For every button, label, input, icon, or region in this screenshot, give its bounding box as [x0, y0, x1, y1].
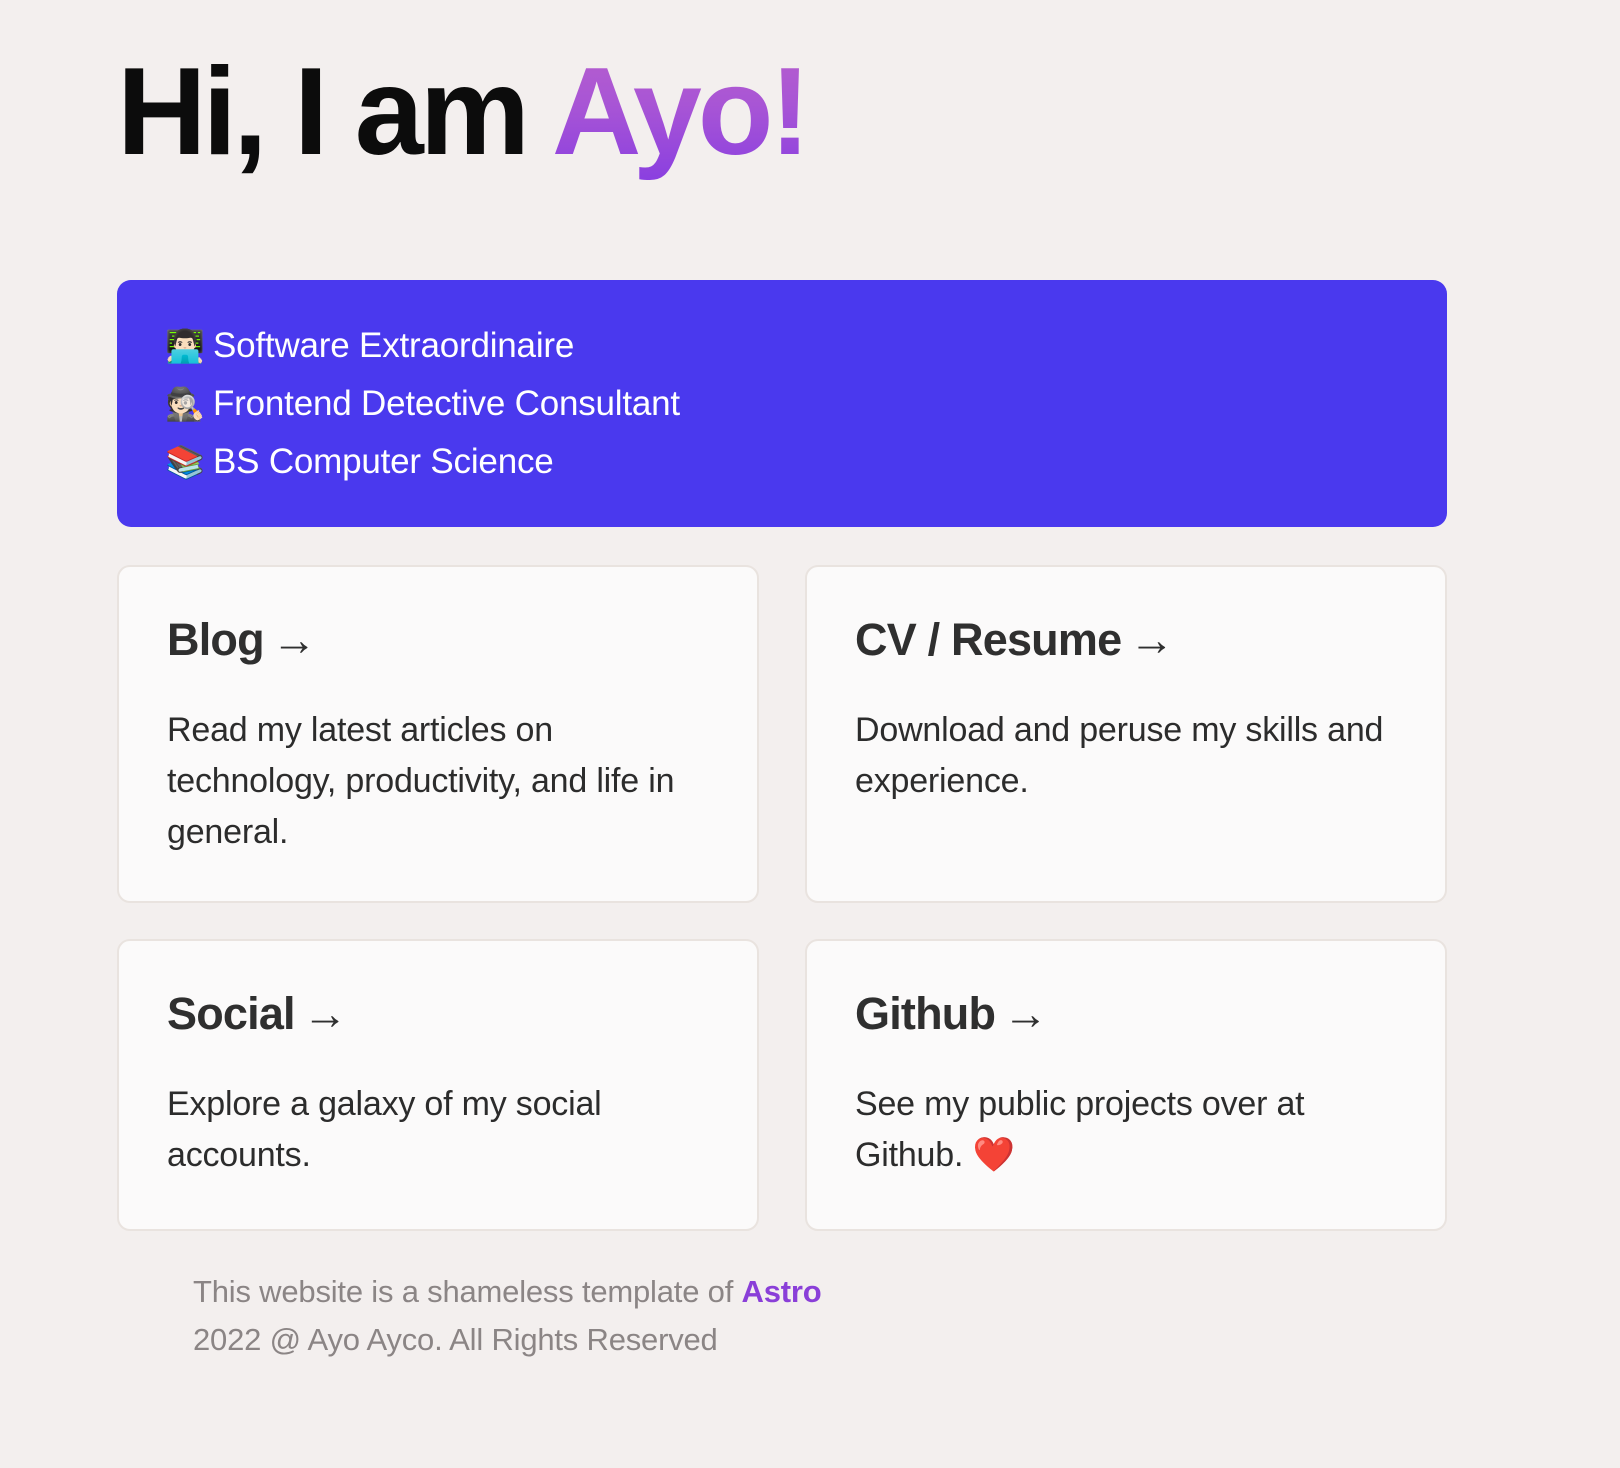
arrow-right-icon: → — [1121, 615, 1173, 665]
card-blog[interactable]: Blog→ Read my latest articles on technol… — [117, 565, 759, 903]
page-title-name: Ayo! — [552, 43, 807, 181]
card-cv-resume-description: Download and peruse my skills and experi… — [855, 705, 1397, 807]
page-title-greeting: Hi, I am — [117, 43, 552, 181]
card-social-description: Explore a galaxy of my social accounts. — [167, 1079, 709, 1181]
footer-credit-line: This website is a shameless template of … — [193, 1268, 1393, 1316]
card-social-title-text: Social — [167, 988, 295, 1039]
footer-copyright: 2022 @ Ayo Ayco. All Rights Reserved — [193, 1316, 1393, 1364]
list-item: 🕵🏻 Frontend Detective Consultant — [165, 375, 1399, 433]
card-github[interactable]: Github→ See my public projects over at G… — [805, 939, 1447, 1231]
list-item: 👨🏻‍💻 Software Extraordinaire — [165, 317, 1399, 375]
detective-icon: 🕵🏻 — [165, 375, 213, 433]
books-icon: 📚 — [165, 433, 213, 491]
page-footer: This website is a shameless template of … — [193, 1268, 1393, 1364]
hero-section: Hi, I am Ayo! — [117, 46, 1457, 180]
card-github-description: See my public projects over at Github. ❤… — [855, 1079, 1397, 1181]
card-social-title: Social→ — [167, 989, 709, 1039]
footer-credit-text: This website is a shameless template of — [193, 1274, 742, 1309]
intro-banner: 👨🏻‍💻 Software Extraordinaire 🕵🏻 Frontend… — [117, 280, 1447, 527]
card-social[interactable]: Social→ Explore a galaxy of my social ac… — [117, 939, 759, 1231]
link-card-grid: Blog→ Read my latest articles on technol… — [117, 565, 1447, 1231]
card-cv-resume-title: CV / Resume→ — [855, 615, 1397, 665]
card-github-title-text: Github — [855, 988, 995, 1039]
card-cv-resume[interactable]: CV / Resume→ Download and peruse my skil… — [805, 565, 1447, 903]
card-blog-title-text: Blog — [167, 614, 264, 665]
page-root: Hi, I am Ayo! 👨🏻‍💻 Software Extraordinai… — [0, 0, 1620, 1468]
page-title: Hi, I am Ayo! — [117, 46, 1457, 180]
arrow-right-icon: → — [295, 989, 347, 1039]
card-blog-description: Read my latest articles on technology, p… — [167, 705, 709, 858]
list-item-label: BS Computer Science — [213, 433, 554, 491]
list-item-label: Software Extraordinaire — [213, 317, 574, 375]
card-blog-title: Blog→ — [167, 615, 709, 665]
card-github-title: Github→ — [855, 989, 1397, 1039]
intro-banner-list: 👨🏻‍💻 Software Extraordinaire 🕵🏻 Frontend… — [165, 317, 1399, 491]
man-technologist-icon: 👨🏻‍💻 — [165, 317, 213, 375]
list-item: 📚 BS Computer Science — [165, 433, 1399, 491]
card-cv-resume-title-text: CV / Resume — [855, 614, 1121, 665]
arrow-right-icon: → — [995, 989, 1047, 1039]
astro-link[interactable]: Astro — [742, 1274, 822, 1309]
arrow-right-icon: → — [264, 615, 316, 665]
list-item-label: Frontend Detective Consultant — [213, 375, 680, 433]
